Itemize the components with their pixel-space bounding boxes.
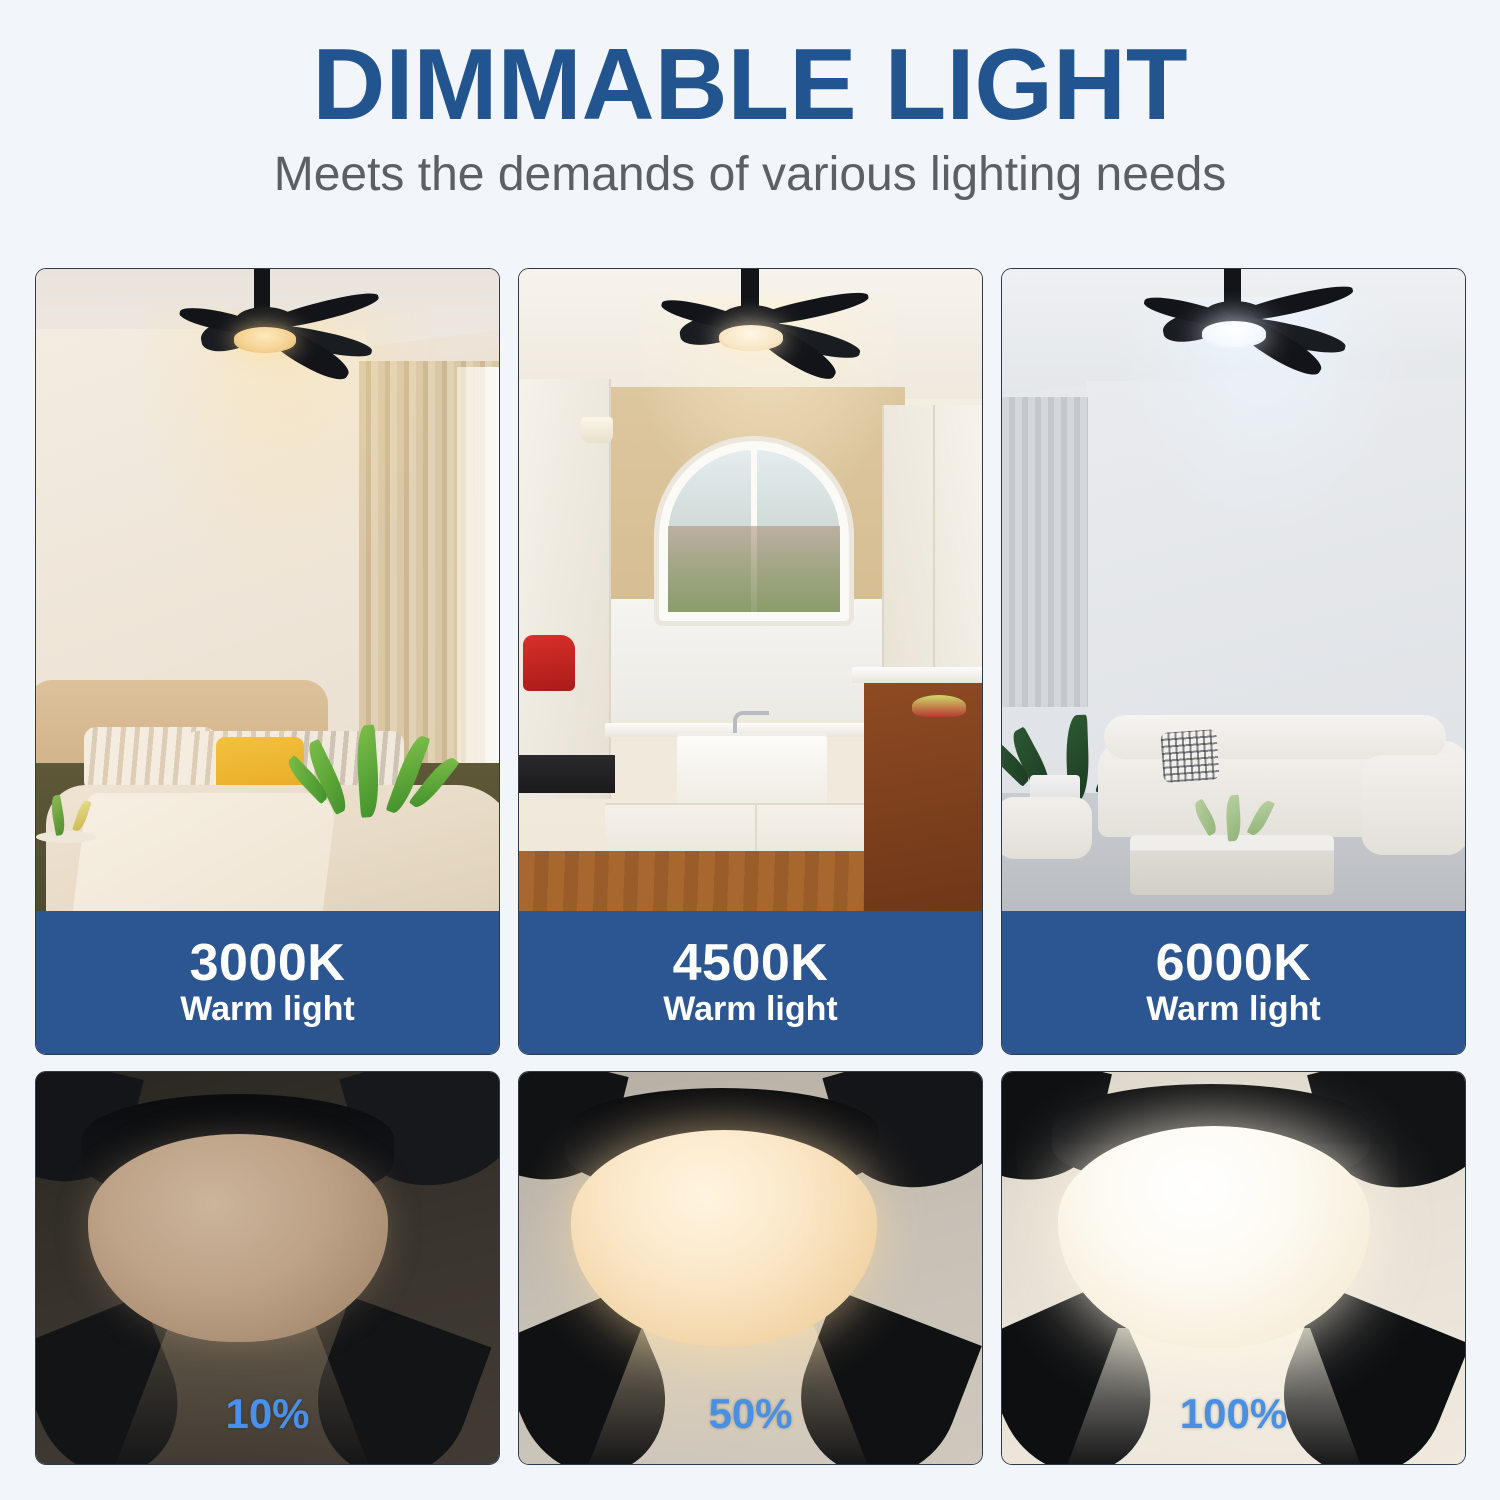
brightness-panel-50[interactable]: 50% <box>518 1071 983 1465</box>
armchair <box>1361 755 1465 855</box>
color-temp-panel-3000k[interactable]: 3000K Warm light <box>35 268 500 1055</box>
brightness-label: 100% <box>1002 1390 1465 1438</box>
bed-runner <box>73 793 338 913</box>
wood-island <box>864 683 982 913</box>
fruit-bowl <box>912 695 966 717</box>
bedroom-scene <box>36 269 499 913</box>
coffee-table <box>1130 835 1334 895</box>
kelvin-label: 6000K <box>1156 937 1312 990</box>
caption-bar-6000k: 6000K Warm light <box>1002 911 1465 1054</box>
farmhouse-sink <box>677 733 827 805</box>
arched-window <box>659 441 849 621</box>
living-room-photo <box>1002 269 1465 913</box>
island-top <box>852 667 982 683</box>
fan-light-lamp <box>1202 321 1266 348</box>
brightness-row: 10% 50% <box>35 1071 1467 1465</box>
window-view <box>668 526 840 612</box>
throw-pillow <box>1160 729 1219 783</box>
wall-sconce <box>581 417 613 443</box>
header-block: DIMMABLE LIGHT Meets the demands of vari… <box>0 0 1500 202</box>
fan-light-lamp <box>719 325 783 351</box>
fan-light-lamp <box>234 327 296 353</box>
bedroom-photo <box>36 269 499 913</box>
color-temperature-row: 3000K Warm light <box>35 268 1467 1055</box>
ottoman <box>1002 797 1092 859</box>
faucet <box>733 711 769 735</box>
page-title: DIMMABLE LIGHT <box>0 32 1500 139</box>
tabletop-plant <box>1198 781 1274 841</box>
panel-grid: 3000K Warm light <box>35 268 1467 1465</box>
brightness-panel-100[interactable]: 100% <box>1001 1071 1466 1465</box>
window-blinds <box>1002 397 1088 707</box>
potted-plant <box>319 677 437 817</box>
ceiling-fan-icon <box>206 269 426 379</box>
brightness-panel-10[interactable]: 10% <box>35 1071 500 1465</box>
kitchen-scene <box>519 269 982 913</box>
light-type-label: Warm light <box>180 992 354 1028</box>
ceiling-fan-icon <box>695 269 915 373</box>
caption-bar-3000k: 3000K Warm light <box>36 911 499 1054</box>
living-room-scene <box>1002 269 1465 913</box>
brightness-label: 50% <box>519 1390 982 1438</box>
sheer-curtain <box>457 367 499 829</box>
page-subtitle: Meets the demands of various lighting ne… <box>0 149 1500 202</box>
kelvin-label: 4500K <box>673 937 829 990</box>
light-type-label: Warm light <box>1146 992 1320 1028</box>
color-temp-panel-4500k[interactable]: 4500K Warm light <box>518 268 983 1055</box>
color-temp-panel-6000k[interactable]: 6000K Warm light <box>1001 268 1466 1055</box>
gas-stove <box>519 755 615 793</box>
brightness-label: 10% <box>36 1390 499 1438</box>
stand-mixer <box>523 635 575 691</box>
ceiling-fan-icon <box>1178 269 1398 371</box>
flower-vase <box>42 783 98 835</box>
caption-bar-4500k: 4500K Warm light <box>519 911 982 1054</box>
light-type-label: Warm light <box>663 992 837 1028</box>
kelvin-label: 3000K <box>190 937 346 990</box>
kitchen-photo <box>519 269 982 913</box>
